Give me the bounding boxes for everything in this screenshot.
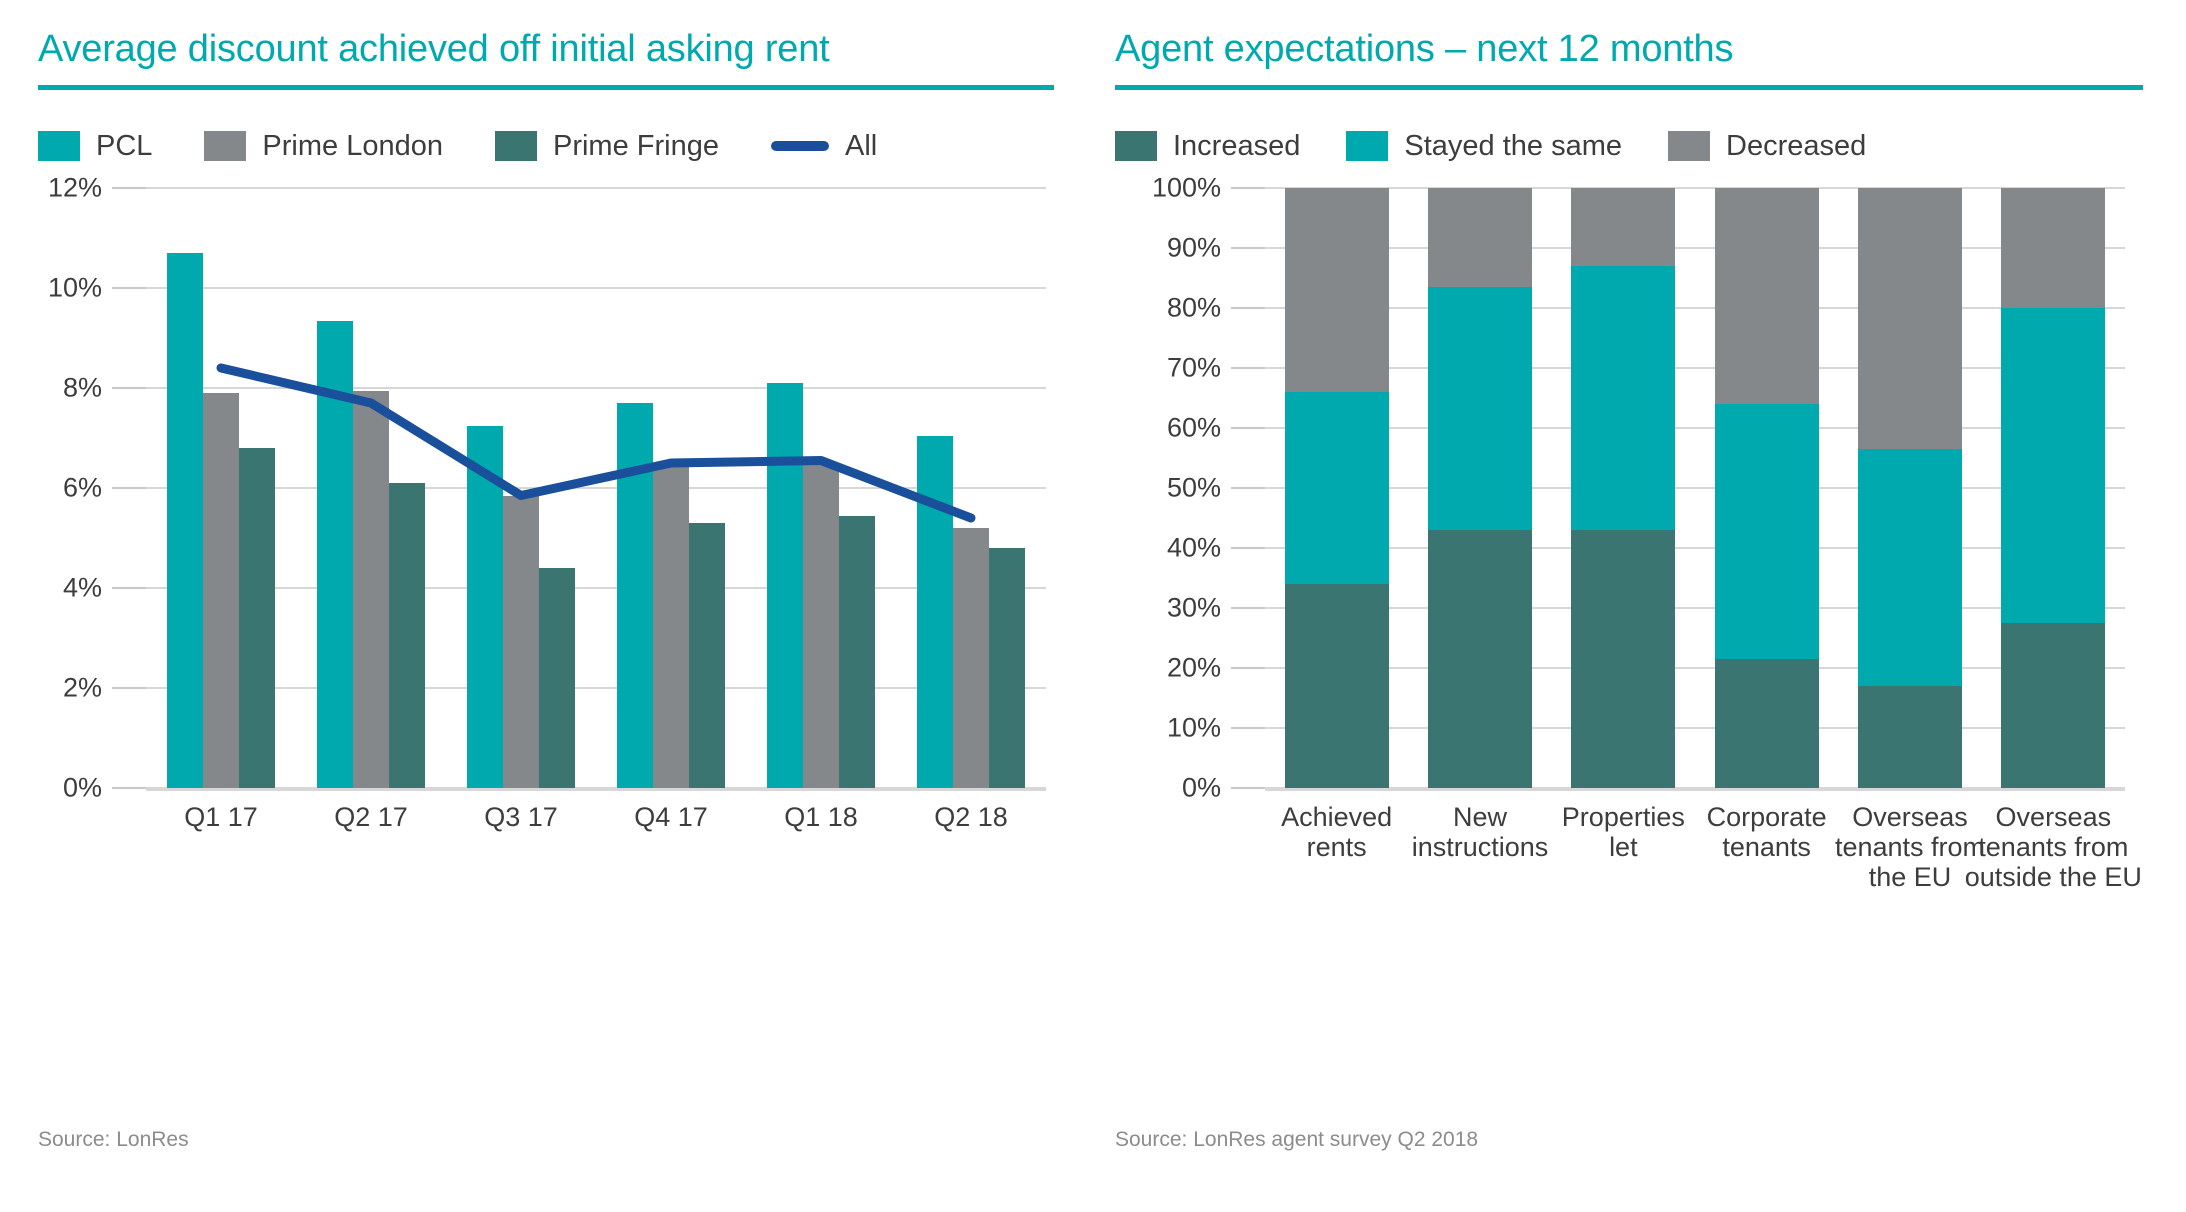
y-tick-label: 2%: [63, 673, 102, 704]
x-tick-label: Q4 17: [634, 802, 708, 832]
stack-segment-decreased: [1571, 188, 1675, 266]
right-chart-title: Agent expectations – next 12 months: [1115, 0, 2186, 71]
legend-swatch-icon-increased: [1115, 131, 1157, 161]
y-tick-label: 8%: [63, 373, 102, 404]
x-tick-label: Q2 17: [334, 802, 408, 832]
legend-line-icon-all: [771, 141, 829, 151]
y-tick-label: 0%: [1182, 773, 1221, 804]
legend-label-increased: Increased: [1173, 130, 1300, 163]
left-x-axis: Q1 17Q2 17Q3 17Q4 17Q1 18Q2 18: [38, 802, 1093, 912]
right-chart-legend: IncreasedStayed the sameDecreased: [1115, 126, 2186, 166]
stack-segment-stayed-the-same: [1858, 449, 1962, 686]
legend-item-prime-fringe[interactable]: Prime Fringe: [495, 130, 719, 163]
right-x-axis: Achieved rentsNew instructionsProperties…: [1115, 802, 2186, 912]
right-source-note: Source: LonRes agent survey Q2 2018: [1115, 1128, 1478, 1152]
y-tick-label: 10%: [48, 273, 102, 304]
right-plot-area: [1265, 188, 2125, 788]
right-y-axis: 0%10%20%30%40%50%60%70%80%90%100%: [1115, 188, 1265, 788]
legend-label-all: All: [845, 130, 877, 163]
left-chart-panel: Average discount achieved off initial as…: [0, 0, 1093, 1212]
y-tick-mark: [1231, 607, 1265, 609]
y-tick-mark: [112, 487, 146, 489]
y-tick-label: 40%: [1167, 533, 1221, 564]
legend-swatch-icon-prime-london: [204, 131, 246, 161]
stack-segment-increased: [1858, 686, 1962, 788]
y-tick-mark: [1231, 547, 1265, 549]
gridline: [1265, 727, 2125, 729]
left-y-axis: 0%2%4%6%8%10%12%: [38, 188, 146, 788]
legend-item-stayed-the-same[interactable]: Stayed the same: [1346, 130, 1622, 163]
y-tick-mark: [112, 187, 146, 189]
stack-segment-stayed-the-same: [1715, 404, 1819, 659]
stack-segment-increased: [1715, 659, 1819, 788]
stacked-bar: [1285, 188, 1389, 788]
y-tick-mark: [112, 687, 146, 689]
x-tick-label: Overseas tenants from outside the EU: [1948, 802, 2158, 893]
stack-segment-increased: [1285, 584, 1389, 788]
legend-label-pcl: PCL: [96, 130, 152, 163]
y-tick-label: 20%: [1167, 653, 1221, 684]
legend-item-decreased[interactable]: Decreased: [1668, 130, 1866, 163]
x-tick-label: Q1 17: [184, 802, 258, 832]
right-title-underline: [1115, 85, 2143, 90]
legend-swatch-icon-pcl: [38, 131, 80, 161]
stacked-bar: [1715, 188, 1819, 788]
y-tick-label: 60%: [1167, 413, 1221, 444]
stacked-bar: [1858, 188, 1962, 788]
y-tick-mark: [1231, 367, 1265, 369]
legend-item-all[interactable]: All: [771, 130, 877, 163]
left-title-underline: [38, 85, 1054, 90]
y-tick-label: 4%: [63, 573, 102, 604]
legend-swatch-icon-stayed-the-same: [1346, 131, 1388, 161]
y-tick-label: 12%: [48, 173, 102, 204]
all-trend-line: [146, 188, 1046, 788]
stack-segment-stayed-the-same: [1571, 266, 1675, 530]
legend-item-prime-london[interactable]: Prime London: [204, 130, 443, 163]
stack-segment-decreased: [1285, 188, 1389, 392]
y-tick-label: 50%: [1167, 473, 1221, 504]
x-tick-label: Q3 17: [484, 802, 558, 832]
legend-label-prime-london: Prime London: [262, 130, 443, 163]
y-tick-mark: [1231, 487, 1265, 489]
x-tick-label: Q2 18: [934, 802, 1008, 832]
y-tick-mark: [1231, 787, 1265, 789]
legend-swatch-icon-prime-fringe: [495, 131, 537, 161]
stack-segment-increased: [1428, 530, 1532, 788]
y-tick-mark: [112, 587, 146, 589]
stack-segment-stayed-the-same: [2001, 308, 2105, 623]
y-tick-label: 90%: [1167, 233, 1221, 264]
stacked-bar: [1428, 188, 1532, 788]
y-tick-label: 30%: [1167, 593, 1221, 624]
y-tick-label: 70%: [1167, 353, 1221, 384]
stack-segment-decreased: [2001, 188, 2105, 308]
y-tick-mark: [1231, 187, 1265, 189]
gridline: [1265, 307, 2125, 309]
gridline: [1265, 427, 2125, 429]
gridline: [1265, 667, 2125, 669]
legend-swatch-icon-decreased: [1668, 131, 1710, 161]
dashboard-page: Average discount achieved off initial as…: [0, 0, 2186, 1212]
y-tick-label: 6%: [63, 473, 102, 504]
y-tick-mark: [112, 387, 146, 389]
right-plot-wrapper: 0%10%20%30%40%50%60%70%80%90%100%: [1115, 188, 2145, 788]
stack-segment-decreased: [1428, 188, 1532, 287]
left-source-note: Source: LonRes: [38, 1128, 189, 1152]
y-tick-label: 80%: [1167, 293, 1221, 324]
stacked-bar: [2001, 188, 2105, 788]
legend-item-pcl[interactable]: PCL: [38, 130, 152, 163]
stack-segment-stayed-the-same: [1428, 287, 1532, 530]
legend-label-stayed-the-same: Stayed the same: [1404, 130, 1622, 163]
stack-segment-increased: [1571, 530, 1675, 788]
y-tick-label: 100%: [1152, 173, 1221, 204]
y-tick-label: 0%: [63, 773, 102, 804]
axis-baseline: [1265, 787, 2125, 791]
gridline: [1265, 247, 2125, 249]
y-tick-mark: [1231, 667, 1265, 669]
left-chart-title: Average discount achieved off initial as…: [38, 0, 1093, 71]
legend-label-decreased: Decreased: [1726, 130, 1866, 163]
y-tick-mark: [1231, 247, 1265, 249]
left-plot-wrapper: 0%2%4%6%8%10%12%: [38, 188, 1058, 788]
stack-segment-decreased: [1715, 188, 1819, 404]
y-tick-mark: [112, 787, 146, 789]
y-tick-mark: [1231, 727, 1265, 729]
left-plot-area: [146, 188, 1046, 788]
y-tick-mark: [1231, 427, 1265, 429]
stack-segment-stayed-the-same: [1285, 392, 1389, 584]
y-tick-mark: [1231, 307, 1265, 309]
stacked-bar: [1571, 188, 1675, 788]
gridline: [1265, 547, 2125, 549]
left-chart-legend: PCLPrime LondonPrime FringeAll: [38, 126, 1093, 166]
gridline: [1265, 487, 2125, 489]
x-tick-label: Q1 18: [784, 802, 858, 832]
stack-segment-decreased: [1858, 188, 1962, 449]
legend-label-prime-fringe: Prime Fringe: [553, 130, 719, 163]
right-chart-panel: Agent expectations – next 12 months Incr…: [1093, 0, 2186, 1212]
y-tick-mark: [112, 287, 146, 289]
stack-segment-increased: [2001, 623, 2105, 788]
gridline: [1265, 607, 2125, 609]
legend-item-increased[interactable]: Increased: [1115, 130, 1300, 163]
gridline: [1265, 367, 2125, 369]
y-tick-label: 10%: [1167, 713, 1221, 744]
gridline: [1265, 187, 2125, 189]
